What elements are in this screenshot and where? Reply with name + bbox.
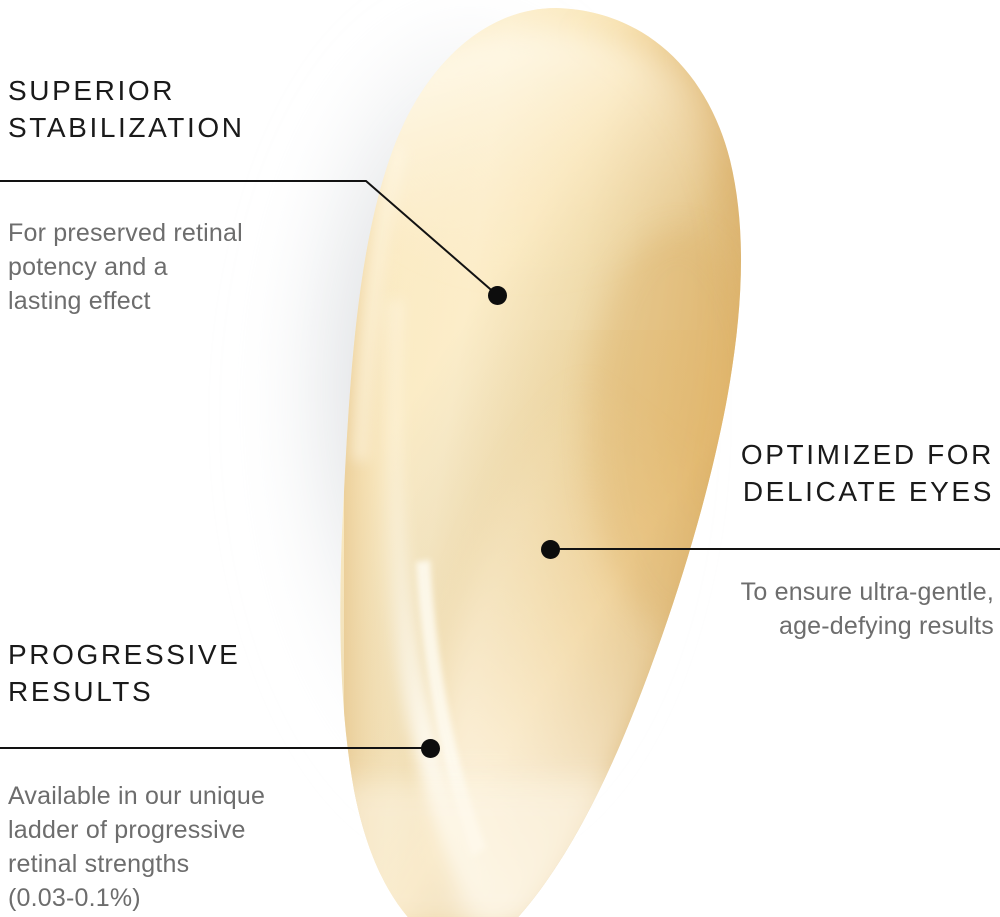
callout-optimized-for-delicate-eyes: OPTIMIZED FOR DELICATE EYES [474,436,994,510]
leader-dot-progressive-results [421,739,440,758]
leader-dot-delicate-eyes [541,540,560,559]
callout-progressive-results: PROGRESSIVE RESULTS [8,636,428,710]
callout-body-wrap-progressive-results: Available in our unique ladder of progre… [8,779,368,915]
callout-body-progressive-results: Available in our unique ladder of progre… [8,779,368,915]
leader-dot-stabilization [488,286,507,305]
callout-superior-stabilization: SUPERIOR STABILIZATION [8,72,428,146]
callout-body-wrap-superior-stabilization: For preserved retinal potency and a last… [8,216,348,318]
callout-heading-superior-stabilization: SUPERIOR STABILIZATION [8,72,428,146]
callout-body-superior-stabilization: For preserved retinal potency and a last… [8,216,348,318]
infographic-canvas: SUPERIOR STABILIZATION For preserved ret… [0,0,1000,917]
callout-heading-optimized-for-delicate-eyes: OPTIMIZED FOR DELICATE EYES [474,436,994,510]
callout-body-optimized-for-delicate-eyes: To ensure ultra-gentle, age-defying resu… [524,575,994,643]
callout-heading-progressive-results: PROGRESSIVE RESULTS [8,636,428,710]
callout-body-wrap-optimized-for-delicate-eyes: To ensure ultra-gentle, age-defying resu… [524,575,994,643]
